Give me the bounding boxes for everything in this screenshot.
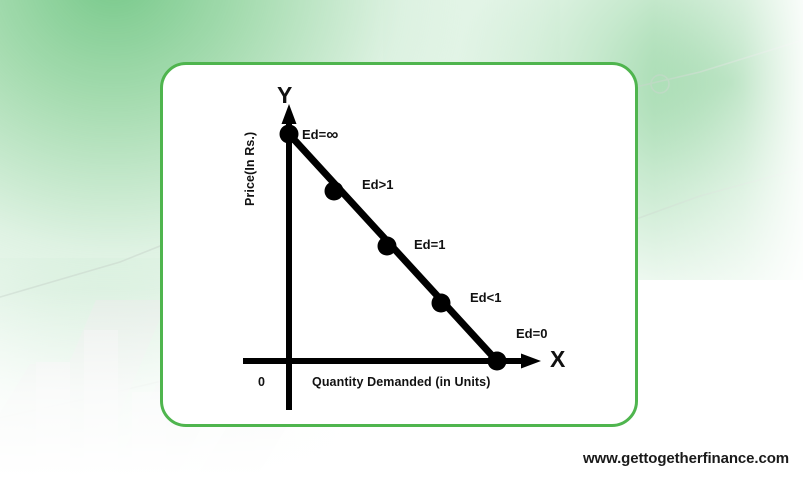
x-axis-letter: X xyxy=(550,348,565,371)
label-ed-infinity: Ed=∞ xyxy=(302,126,338,143)
data-point-ed-greater-than-1 xyxy=(325,182,344,201)
site-watermark: www.gettogetherfinance.com xyxy=(583,450,789,467)
label-ed-greater-than-1: Ed>1 xyxy=(362,178,393,191)
x-axis-arrowhead xyxy=(521,354,541,369)
y-axis-caption: Price(In Rs.) xyxy=(243,106,257,206)
origin-label: 0 xyxy=(258,375,265,389)
label-ed-less-than-1: Ed<1 xyxy=(470,291,501,304)
data-point-ed-equals-1 xyxy=(378,237,397,256)
label-ed-equals-1: Ed=1 xyxy=(414,238,445,251)
data-point-ed-infinity xyxy=(280,125,299,144)
elasticity-chart: Y X Price(In Rs.) Quantity Demanded (in … xyxy=(0,0,803,478)
y-axis-letter: Y xyxy=(277,84,292,107)
x-axis-caption: Quantity Demanded (in Units) xyxy=(312,375,491,389)
screenshot-canvas: Y X Price(In Rs.) Quantity Demanded (in … xyxy=(0,0,803,478)
label-ed-infinity-text: Ed= xyxy=(302,127,326,142)
data-point-ed-equals-0 xyxy=(488,352,507,371)
infinity-icon: ∞ xyxy=(326,125,338,144)
data-point-ed-less-than-1 xyxy=(432,294,451,313)
label-ed-equals-0: Ed=0 xyxy=(516,327,547,340)
